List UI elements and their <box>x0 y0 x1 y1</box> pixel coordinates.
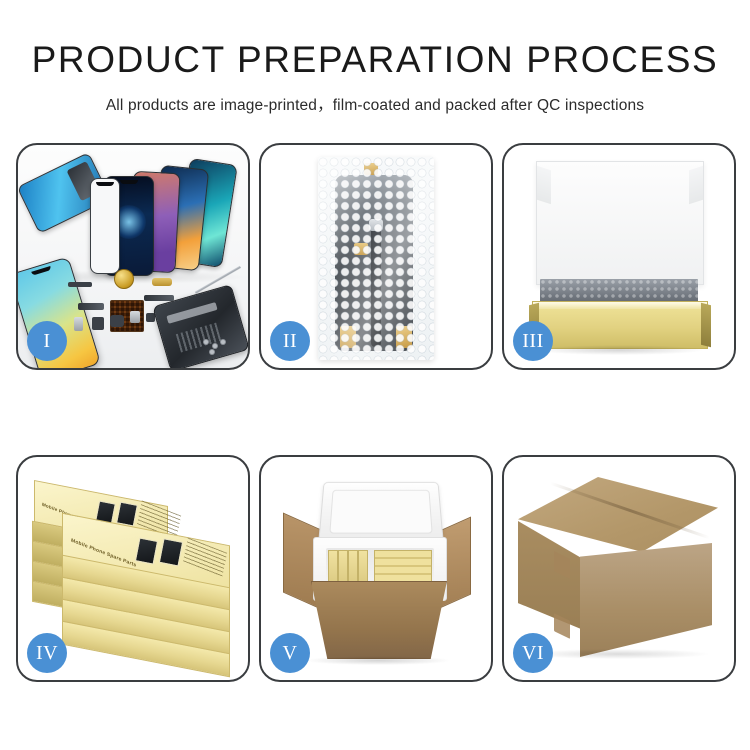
step-panel-4: Mobile Phone Spare Parts Mobile Phone Sp… <box>16 455 250 682</box>
screws-group-icon <box>204 340 230 354</box>
page-header: PRODUCT PREPARATION PROCESS All products… <box>0 0 750 115</box>
product-photo-d <box>159 538 183 566</box>
product-photo-c <box>135 538 158 565</box>
open-carton <box>277 475 475 667</box>
flex-cable-icon <box>144 295 174 301</box>
carton-left-face <box>518 521 581 629</box>
product-photo-b <box>116 502 138 527</box>
step-badge-2: II <box>270 321 310 361</box>
camera-module-icon <box>92 317 104 330</box>
step-panel-3: III <box>502 143 736 370</box>
step-panel-5: V <box>259 455 493 682</box>
button-bracket-icon <box>130 311 140 323</box>
step-badge-5: V <box>270 633 310 673</box>
box-lid <box>536 161 704 285</box>
lid-flap-right <box>689 166 703 205</box>
step-panel-1: I <box>16 143 250 370</box>
sealed-carton <box>518 477 718 657</box>
sim-tray-icon <box>74 317 83 331</box>
step-badge-6: VI <box>513 633 553 673</box>
bubble-bag <box>318 157 434 360</box>
glass-protector-icon <box>90 178 120 274</box>
notch-icon <box>96 182 114 186</box>
bag-sheen <box>318 157 434 360</box>
carton-shadow <box>307 656 449 665</box>
open-yellow-box <box>526 161 712 351</box>
product-preparation-page: PRODUCT PREPARATION PROCESS All products… <box>0 0 750 750</box>
vibration-motor-icon <box>114 269 134 289</box>
page-title: PRODUCT PREPARATION PROCESS <box>0 40 750 81</box>
carton-right-face <box>580 543 712 657</box>
process-step-grid: I II <box>16 143 735 682</box>
tray-end-right <box>701 303 711 347</box>
earpiece-speaker-icon <box>68 282 92 287</box>
carton-shadow <box>528 649 708 659</box>
carton-body <box>311 581 447 659</box>
box-tray <box>532 301 708 349</box>
antenna-cable-icon <box>78 303 104 310</box>
step-panel-6: VI <box>502 455 736 682</box>
notch-icon <box>120 180 138 184</box>
page-subtitle: All products are image-printed，film-coat… <box>0 93 750 115</box>
lid-flap-left <box>537 166 551 205</box>
styrofoam-lid <box>318 482 444 543</box>
step-panel-2: II <box>259 143 493 370</box>
speaker-box-icon <box>110 315 124 327</box>
step-badge-3: III <box>513 321 553 361</box>
notch-icon <box>31 266 51 276</box>
step-badge-1: I <box>27 321 67 361</box>
box-shadow <box>536 345 702 355</box>
phone-screen-fan <box>52 161 232 276</box>
step-badge-4: IV <box>27 633 67 673</box>
box-spec-lines-b <box>183 538 227 578</box>
gold-flex-connector-icon <box>152 278 172 286</box>
